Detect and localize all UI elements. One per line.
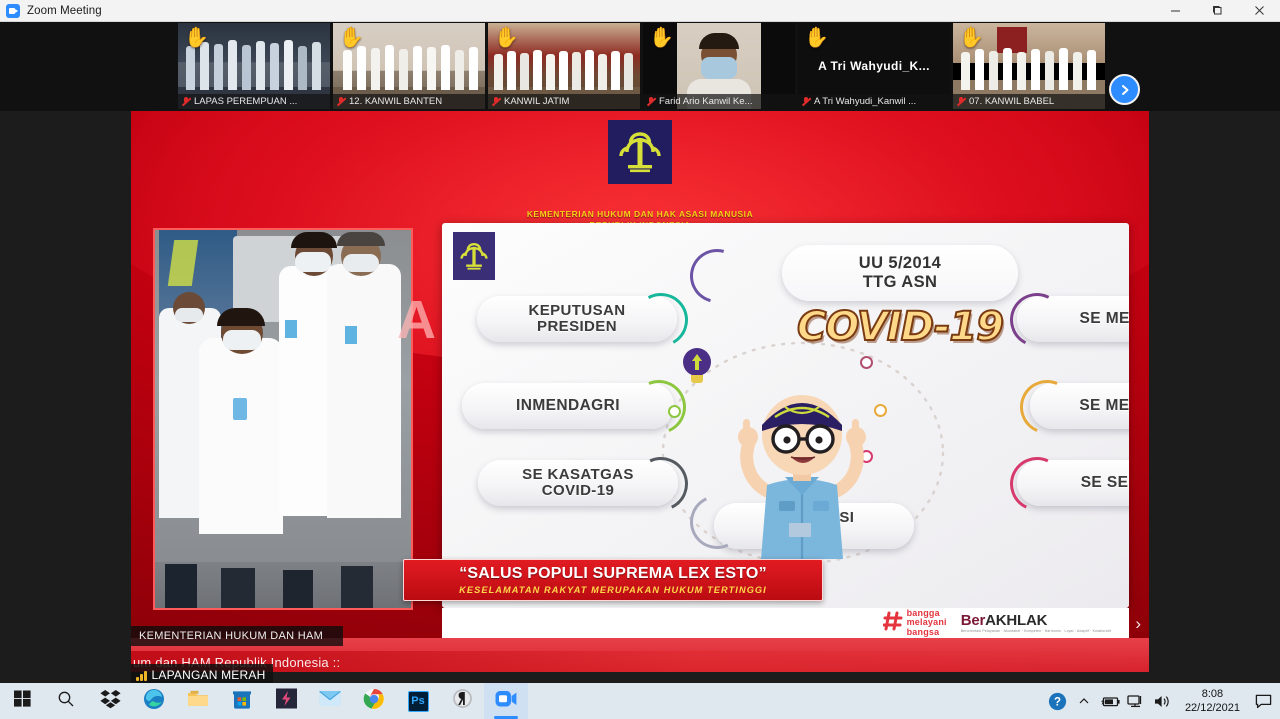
slide-logo-strip: bangga melayani bangsa BerAKHLAK Berorie…: [442, 608, 1129, 638]
zoom-meeting-window: Zoom Meeting: [0, 0, 1280, 719]
participant-name: KANWIL JATIM: [504, 96, 569, 107]
chevron-right-icon: [1118, 83, 1132, 97]
microsoft-store-button[interactable]: [220, 683, 264, 719]
berakhlak-wordmark: BerAKHLAK: [961, 612, 1111, 629]
audio-bars-icon: [136, 670, 147, 681]
shared-screen[interactable]: KEMENTERIAN HUKUM DAN HAK ASASI MANUSIA …: [131, 111, 1149, 672]
edge-button[interactable]: [132, 683, 176, 719]
pill-line-1: SE SEKJEN: [1081, 475, 1129, 491]
dropbox-icon: [100, 688, 121, 714]
participant-tile[interactable]: ✋ Farid Ario Kanwil Ke...: [643, 23, 795, 109]
bangga-text: bangga melayani bangsa: [907, 609, 947, 637]
raise-hand-icon: ✋: [494, 28, 519, 48]
store-icon: [232, 688, 252, 714]
broadcast-ticker: um dan HAM Republik Indonesia ::: [131, 651, 1149, 672]
taskbar-items: Ps: [0, 683, 528, 719]
zoom-camera-icon: [6, 4, 20, 18]
participant-name-bar: A Tri Wahyudi_Kanwil ...: [798, 94, 950, 109]
next-page-button[interactable]: [1109, 74, 1140, 105]
participant-filmstrip: ✋ LAPAS PEREMPUAN ...: [0, 22, 1280, 111]
accent-ring-top: [680, 239, 754, 313]
inset-video-feed: [153, 228, 413, 610]
smadav-button[interactable]: [264, 683, 308, 719]
asn-mascot-icon: [727, 373, 877, 563]
mic-muted-icon: [956, 96, 966, 107]
motto-indonesian: KESELAMATAN RAKYAT MERUPAKAN HUKUM TERTI…: [459, 585, 767, 595]
diagram-card: UU 5/2014 TTG ASN COVID-19 KEPUTUSAN PRE…: [442, 223, 1129, 608]
kemenkumham-banyan-tree-icon: [608, 120, 672, 184]
kemenkumham-badge-icon: [453, 232, 495, 280]
pill-uu-5-2014: UU 5/2014 TTG ASN: [782, 245, 1018, 301]
background-letter: A: [397, 289, 437, 351]
zoom-button[interactable]: [484, 683, 528, 719]
pill-line-2: PRESIDEN: [529, 319, 626, 335]
photoshop-icon: Ps: [408, 691, 429, 712]
raise-hand-icon: ✋: [339, 28, 364, 48]
chevron-up-icon[interactable]: [1071, 683, 1097, 719]
active-speaker-name: LAPANGAN MERAH: [152, 668, 266, 682]
edge-icon: [143, 688, 165, 715]
ministry-name-line1: KEMENTERIAN HUKUM DAN HAK ASASI MANUSIA: [527, 209, 753, 220]
participant-name: A Tri Wahyudi_Kanwil ...: [814, 96, 916, 107]
mic-muted-icon: [491, 96, 501, 107]
photoshop-label: Ps: [411, 695, 424, 707]
participant-name-bar: 12. KANWIL BANTEN: [333, 94, 485, 109]
berakhlak-prefix: Ber: [961, 612, 985, 629]
participant-name-bar: Farid Ario Kanwil Ke...: [643, 94, 795, 109]
network-icon[interactable]: [1123, 683, 1149, 719]
ministry-logo: [603, 120, 677, 200]
chrome-icon: [363, 688, 385, 715]
clock[interactable]: 8:08 22/12/2021: [1175, 683, 1250, 719]
chrome-button[interactable]: [352, 683, 396, 719]
title-bar: Zoom Meeting: [0, 0, 1280, 22]
participant-thumbnails: ✋ LAPAS PEREMPUAN ...: [178, 23, 1105, 109]
pill-line-2: TTG ASN: [863, 273, 938, 292]
yandex-clock-icon: [452, 688, 473, 714]
raise-hand-icon: ✋: [184, 28, 209, 48]
minimize-button[interactable]: [1154, 0, 1196, 22]
clock-time: 8:08: [1202, 687, 1223, 701]
windows-logo-icon: [14, 690, 31, 712]
pill-line-1: SE MENPAN-RB: [1079, 398, 1129, 414]
pill-line-1: SE MENKES: [1080, 311, 1129, 327]
dropbox-button[interactable]: [88, 683, 132, 719]
mic-muted-icon: [646, 96, 656, 107]
mic-muted-icon: [801, 96, 811, 107]
window-title: Zoom Meeting: [27, 5, 102, 17]
slide-title: COVID-19: [770, 304, 1030, 350]
search-button[interactable]: [44, 683, 88, 719]
participant-name-bar: 07. KANWIL BABEL: [953, 94, 1105, 109]
participant-name-bar: LAPAS PEREMPUAN ...: [178, 94, 330, 109]
folder-icon: [187, 689, 209, 713]
mic-muted-icon: [336, 96, 346, 107]
participant-name: Farid Ario Kanwil Ke...: [659, 96, 752, 107]
clock-date: 22/12/2021: [1185, 701, 1240, 715]
window-controls: [1154, 0, 1280, 22]
raise-hand-icon: ✋: [804, 28, 829, 48]
presentation-slide: KEMENTERIAN HUKUM DAN HAK ASASI MANUSIA …: [131, 111, 1149, 672]
notification-icon[interactable]: [1250, 683, 1276, 719]
file-explorer-button[interactable]: [176, 683, 220, 719]
participant-name: 07. KANWIL BABEL: [969, 96, 1054, 107]
pill-line-1: SE KASATGAS: [522, 467, 634, 483]
bangga-line-3: bangsa: [907, 628, 947, 637]
photoshop-button[interactable]: Ps: [396, 683, 440, 719]
participant-tile[interactable]: ✋ 07. KANWIL BABEL: [953, 23, 1105, 109]
participant-name: 12. KANWIL BANTEN: [349, 96, 442, 107]
chevron-right-icon[interactable]: ›: [1135, 614, 1141, 634]
yandex-button[interactable]: [440, 683, 484, 719]
help-question-icon[interactable]: ?: [1045, 683, 1071, 719]
participant-tile[interactable]: ✋ 12. KANWIL BANTEN: [333, 23, 485, 109]
participant-name: LAPAS PEREMPUAN ...: [194, 96, 297, 107]
lightning-icon: [276, 688, 297, 714]
pill-line-1: UU 5/2014: [859, 254, 941, 273]
volume-icon[interactable]: [1149, 683, 1175, 719]
mail-button[interactable]: [308, 683, 352, 719]
maximize-button[interactable]: [1196, 0, 1238, 22]
berakhlak-logo: BerAKHLAK Berorientasi Pelayanan · Akunt…: [961, 612, 1111, 633]
mic-muted-icon: [181, 96, 191, 107]
raise-hand-icon: ✋: [649, 28, 674, 48]
idea-bulb-icon: [682, 348, 712, 388]
bangga-melayani-bangsa-icon: [883, 610, 903, 637]
battery-icon[interactable]: [1097, 683, 1123, 719]
raise-hand-icon: ✋: [959, 28, 984, 48]
connector-node: [860, 356, 873, 369]
participant-tile[interactable]: ✋ KANWIL JATIM: [488, 23, 640, 109]
broadcast-lower-third: KEMENTERIAN HUKUM DAN HAM: [131, 626, 343, 646]
berakhlak-subtitle: Berorientasi Pelayanan · Akuntabel · Kom…: [961, 629, 1111, 633]
search-icon: [57, 690, 75, 713]
berakhlak-suffix: AKHLAK: [985, 612, 1047, 629]
mail-icon: [319, 690, 341, 712]
windows-taskbar: Ps: [0, 683, 1280, 719]
system-tray: ?: [1045, 683, 1280, 719]
participant-tile[interactable]: ✋ LAPAS PEREMPUAN ...: [178, 23, 330, 109]
pill-line-2: COVID-19: [522, 483, 634, 499]
participant-name-bar: KANWIL JATIM: [488, 94, 640, 109]
participant-tile[interactable]: A Tri Wahyudi_K... ✋ A Tri Wahyudi_Kanwi…: [798, 23, 950, 109]
zoom-camera-icon: [495, 690, 517, 713]
start-button[interactable]: [0, 683, 44, 719]
pill-line-1: KEPUTUSAN: [529, 303, 626, 319]
bangga-melayani-bangsa-logo: bangga melayani bangsa: [883, 609, 947, 637]
motto-latin: “SALUS POPULI SUPREMA LEX ESTO”: [459, 565, 767, 583]
svg-text:?: ?: [1054, 696, 1061, 708]
connector-node: [668, 405, 681, 418]
pill-line-1: INMENDAGRI: [516, 398, 620, 414]
broadcast-title: KEMENTERIAN HUKUM DAN HAM: [139, 630, 323, 642]
close-button[interactable]: [1238, 0, 1280, 22]
motto-banner: “SALUS POPULI SUPREMA LEX ESTO” KESELAMA…: [403, 559, 823, 601]
